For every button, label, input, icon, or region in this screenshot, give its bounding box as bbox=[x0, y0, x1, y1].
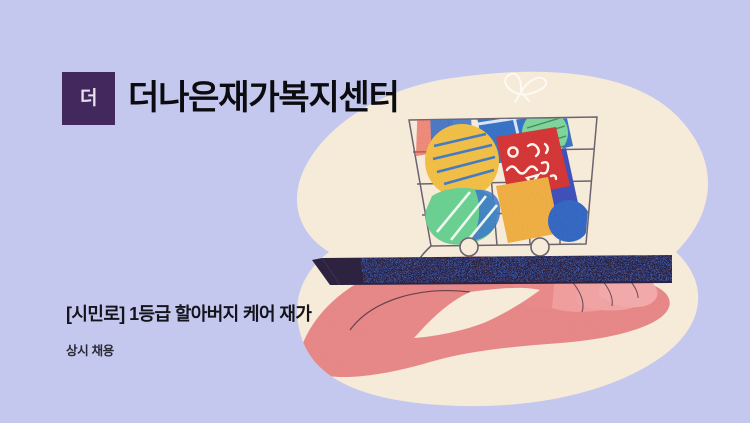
blue-ball bbox=[548, 200, 590, 242]
job-posting-card: 더 더나은재가복지센터 [시민로] 1등급 할아버지 케어 재가 상시 채용 bbox=[0, 0, 750, 423]
yellow-striped-circle bbox=[425, 124, 499, 198]
job-title[interactable]: [시민로] 1등급 할아버지 케어 재가 bbox=[66, 303, 311, 326]
company-logo-badge: 더 bbox=[62, 72, 115, 125]
company-name: 더나은재가복지센터 bbox=[128, 81, 399, 117]
job-status-badge: 상시 채용 bbox=[66, 340, 311, 359]
company-logo-text: 더 bbox=[80, 89, 97, 108]
illustration-shopping-cart bbox=[0, 0, 750, 423]
job-info: [시민로] 1등급 할아버지 케어 재가 상시 채용 bbox=[66, 303, 311, 359]
dark-bar bbox=[312, 255, 672, 285]
company-header: 더 더나은재가복지센터 bbox=[62, 72, 399, 125]
